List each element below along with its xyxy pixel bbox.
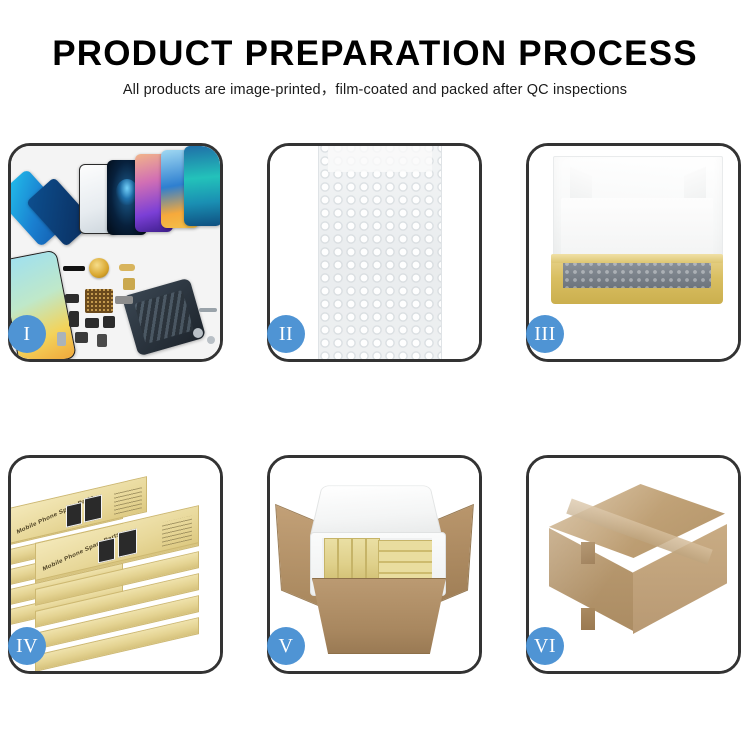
page-subtitle: All products are image-printed，film-coat… [0,81,750,99]
bubble-wrap-bag-icon [318,146,442,359]
product-preparation-page: PRODUCT PREPARATION PROCESS All products… [0,0,750,750]
carton-seam-icon [581,608,595,630]
box-window-icon [66,502,82,528]
part-icon [123,278,135,290]
carton-body-icon [312,578,446,654]
page-title: PRODUCT PREPARATION PROCESS [0,34,750,74]
step-badge-2: II [267,315,305,353]
step-panel-2[interactable]: II [267,143,482,362]
process-steps-grid: I II [8,143,742,680]
bag-seal-icon [328,146,432,172]
box-window-icon [118,528,137,557]
yellow-box-icon [338,538,352,584]
yellow-box-stack-icon [378,540,432,584]
step-panel-5[interactable]: V [267,455,482,674]
chip-grid-part-icon [85,289,113,313]
part-icon [115,296,133,304]
part-icon [199,308,217,312]
foam-box-contents [322,538,432,584]
part-icon [65,294,79,303]
step-panel-1[interactable]: I [8,143,223,362]
gold-coil-part-icon [89,258,109,278]
box-label-text: Mobile Phone Spare Parts [16,495,94,536]
step-panel-4[interactable]: Mobile Phone Spare Parts Mobile Phone Sp… [8,455,223,674]
part-icon [85,318,99,328]
step-badge-1: I [8,315,46,353]
part-icon [63,266,85,271]
part-icon [207,336,215,344]
step-badge-3: III [526,315,564,353]
step-panel-3[interactable]: III [526,143,741,362]
grey-bubble-wrap-icon [563,260,711,288]
step-badge-6: VI [526,627,564,665]
part-icon [57,332,66,346]
step-panel-6[interactable]: VI [526,455,741,674]
tray-lip-icon [551,254,723,263]
box-window-icon [84,494,102,522]
yellow-box-icon [352,538,366,584]
yellow-box-icon [324,538,338,584]
part-icon [103,316,115,328]
box-spec-lines-icon [114,486,142,514]
phone-back-housing-icon [122,278,206,357]
part-icon [75,332,88,343]
part-icon [69,311,79,327]
carton-seam-icon [581,542,595,564]
part-icon [97,334,107,347]
part-icon [119,264,135,271]
part-icon [193,328,203,338]
teal-gradient-phone-icon [184,146,220,226]
step-badge-5: V [267,627,305,665]
box-window-icon [98,537,115,563]
header: PRODUCT PREPARATION PROCESS All products… [0,34,750,99]
step-badge-4: IV [8,627,46,665]
box-spec-lines-icon [162,516,192,547]
